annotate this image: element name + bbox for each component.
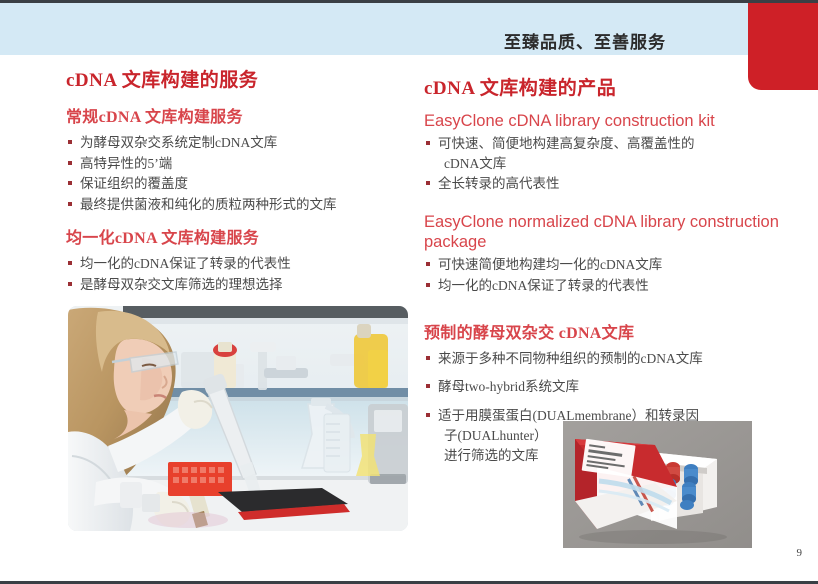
right-section-1-list: 可快速、简便地构建高复杂度、高覆盖性的 cDNA文库 全长转录的高代表性 <box>424 134 804 194</box>
list-item: 是酵母双杂交文库筛选的理想选择 <box>66 275 414 295</box>
list-item-line: 可快速、简便地构建高复杂度、高覆盖性的 <box>438 136 695 151</box>
header-band <box>0 3 818 55</box>
list-item: 保证组织的覆盖度 <box>66 174 414 194</box>
right-section-2-heading: EasyClone normalized cDNA library constr… <box>424 212 804 252</box>
right-section-2-list: 可快速简便地构建均一化的cDNA文库 均一化的cDNA保证了转录的代表性 <box>424 255 804 295</box>
right-column: cDNA 文库构建的产品 EasyClone cDNA library cons… <box>424 73 804 476</box>
page-number: 9 <box>797 547 803 559</box>
list-item: 可快速简便地构建均一化的cDNA文库 <box>424 255 804 275</box>
list-item-line-continued: cDNA文库 <box>438 154 804 174</box>
list-item: 来源于多种不同物种组织的预制的cDNA文库 <box>424 349 804 369</box>
slide-page: 至臻品质、至善服务 cDNA 文库构建的服务 常规cDNA 文库构建服务 为酵母… <box>0 0 818 584</box>
right-section-1-heading: EasyClone cDNA library construction kit <box>424 111 804 131</box>
list-item: 高特异性的5’端 <box>66 154 414 174</box>
left-column: cDNA 文库构建的服务 常规cDNA 文库构建服务 为酵母双杂交系统定制cDN… <box>66 65 414 304</box>
right-section-3-heading: 预制的酵母双杂交 cDNA文库 <box>424 319 804 343</box>
spacer <box>424 305 804 319</box>
left-column-title: cDNA 文库构建的服务 <box>66 65 414 92</box>
list-item: 最终提供菌液和纯化的质粒两种形式的文库 <box>66 195 414 215</box>
right-column-title: cDNA 文库构建的产品 <box>424 73 804 100</box>
left-section-1-heading: 常规cDNA 文库构建服务 <box>66 103 414 127</box>
left-section-1-list: 为酵母双杂交系统定制cDNA文库 高特异性的5’端 保证组织的覆盖度 最终提供菌… <box>66 133 414 214</box>
list-item: 均一化的cDNA保证了转录的代表性 <box>424 276 804 296</box>
list-item: 可快速、简便地构建高复杂度、高覆盖性的 cDNA文库 <box>424 134 804 173</box>
list-item: 均一化的cDNA保证了转录的代表性 <box>66 254 414 274</box>
spacer <box>424 204 804 212</box>
left-section-2-list: 均一化的cDNA保证了转录的代表性 是酵母双杂交文库筛选的理想选择 <box>66 254 414 294</box>
header-title: 至臻品质、至善服务 <box>504 28 666 53</box>
left-section-2-heading: 均一化cDNA 文库构建服务 <box>66 224 414 248</box>
list-item: 酵母two-hybrid系统文库 <box>424 377 804 397</box>
product-kit-photo <box>563 421 752 548</box>
lab-photo-illustration <box>68 306 408 531</box>
list-item: 为酵母双杂交系统定制cDNA文库 <box>66 133 414 153</box>
product-box-illustration <box>563 421 752 548</box>
list-item: 全长转录的高代表性 <box>424 174 804 194</box>
lab-scientist-photo <box>68 306 408 531</box>
